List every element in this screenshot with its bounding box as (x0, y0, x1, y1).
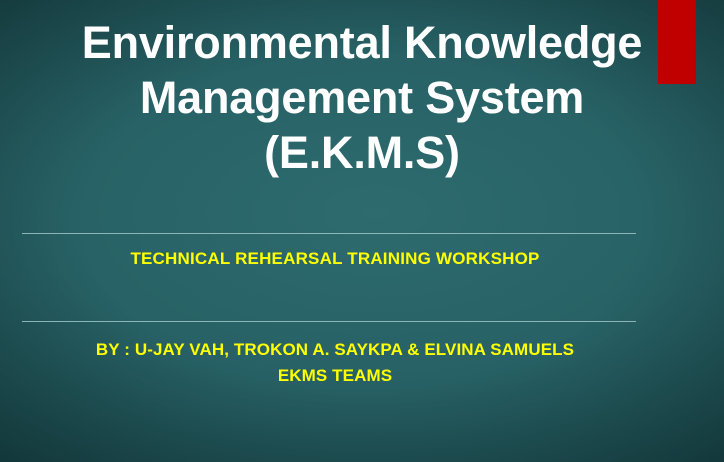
presentation-title-slide: Environmental Knowledge Management Syste… (0, 0, 724, 462)
title-line-3: (E.K.M.S) (12, 126, 712, 181)
divider-bottom (22, 321, 636, 322)
byline-team: EKMS TEAMS (12, 363, 658, 389)
slide-content: Environmental Knowledge Management Syste… (0, 0, 724, 462)
byline-authors: BY : U-JAY VAH, TROKON A. SAYKPA & ELVIN… (96, 340, 574, 359)
divider-top (22, 233, 636, 234)
slide-subtitle: TECHNICAL REHEARSAL TRAINING WORKSHOP (12, 249, 658, 269)
slide-title: Environmental Knowledge Management Syste… (12, 16, 712, 181)
title-line-2: Management System (12, 71, 712, 126)
title-line-1: Environmental Knowledge (12, 16, 712, 71)
slide-byline: BY : U-JAY VAH, TROKON A. SAYKPA & ELVIN… (12, 337, 658, 388)
